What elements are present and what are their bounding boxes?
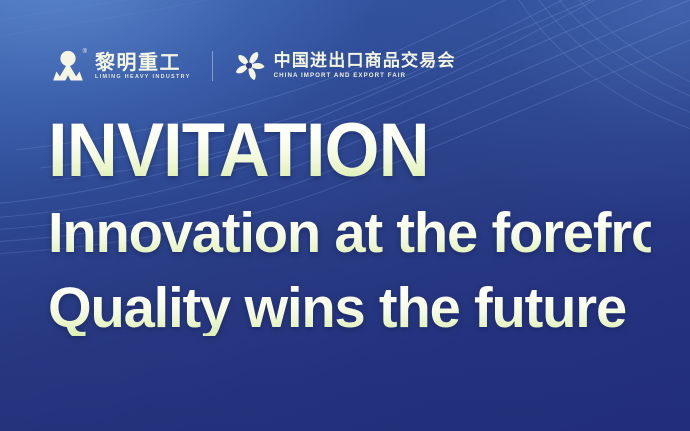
- canton-fair-flower-mark-icon: [232, 49, 266, 83]
- logo-bar: ® 黎明重工 LIMING HEAVY INDUSTRY: [50, 44, 456, 88]
- logo-divider: [212, 51, 213, 81]
- liming-chinese-name: 黎明重工: [95, 52, 191, 73]
- canton-fair-wordmark: 中国进出口商品交易会 CHINA IMPORT AND EXPORT FAIR: [274, 52, 456, 80]
- subtitle-line-1: Innovation at the forefront: [48, 207, 651, 261]
- canton-fair-logo: 中国进出口商品交易会 CHINA IMPORT AND EXPORT FAIR: [232, 49, 456, 83]
- liming-wordmark: 黎明重工 LIMING HEAVY INDUSTRY: [95, 52, 191, 81]
- registered-trademark-icon: ®: [83, 49, 87, 55]
- headline-stack: INVITATION Innovation at the forefront Q…: [48, 118, 660, 336]
- liming-english-name: LIMING HEAVY INDUSTRY: [95, 75, 191, 81]
- liming-logo: ® 黎明重工 LIMING HEAVY INDUSTRY: [50, 49, 191, 83]
- page-title: INVITATION: [48, 118, 617, 183]
- canton-fair-chinese-name: 中国进出口商品交易会: [274, 52, 456, 71]
- subtitle-line-2: Quality wins the future: [48, 282, 651, 336]
- invitation-poster: ® 黎明重工 LIMING HEAVY INDUSTRY: [0, 0, 690, 431]
- canton-fair-english-name: CHINA IMPORT AND EXPORT FAIR: [274, 73, 456, 80]
- liming-triangle-mark-icon: ®: [50, 49, 86, 83]
